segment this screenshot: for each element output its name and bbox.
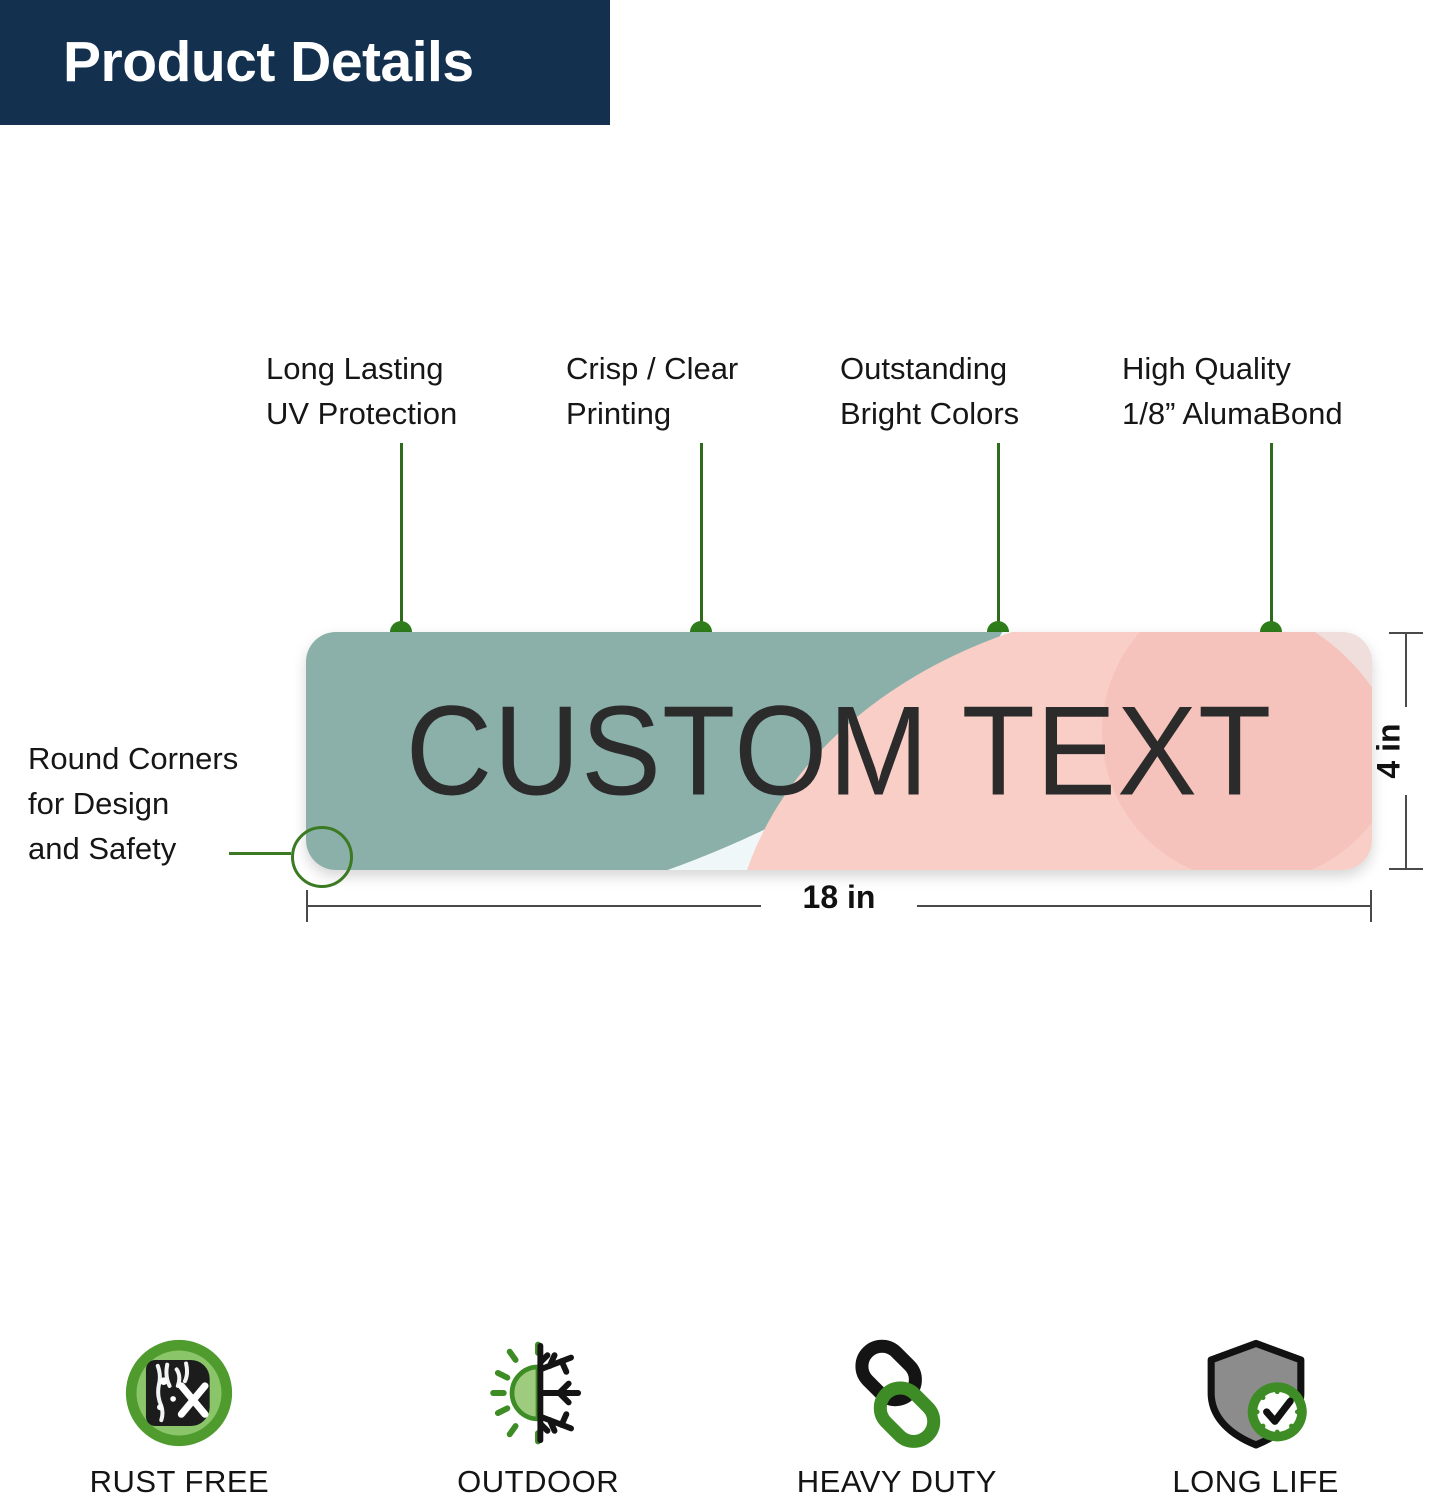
callout-label-alumabond: High Quality 1/8” AlumaBond: [1122, 347, 1343, 437]
dimension-height-line-top: [1405, 632, 1407, 707]
dimension-height-tick-top: [1389, 632, 1423, 634]
leader-line-bright-colors: [997, 443, 1000, 638]
dimension-height: 4 in: [1405, 632, 1407, 870]
leader-line-crisp-printing: [700, 443, 703, 638]
header-banner: Product Details: [0, 0, 610, 125]
leader-line-uv-protection: [400, 443, 403, 638]
round-corner-highlight-circle: [291, 826, 353, 888]
chain-link-icon: [838, 1334, 956, 1452]
callout-label-round-corners: Round Corners for Design and Safety: [28, 737, 238, 872]
feature-label-heavy-duty: HEAVY DUTY: [797, 1464, 997, 1500]
feature-rust-free: RUST FREE: [0, 1300, 359, 1500]
sun-snowflake-icon: [479, 1334, 597, 1452]
feature-label-rust-free: RUST FREE: [90, 1464, 270, 1500]
feature-outdoor: OUTDOOR: [359, 1300, 718, 1500]
feature-badges: RUST FREE: [0, 1300, 1435, 1500]
dimension-height-line-bottom: [1405, 795, 1407, 870]
callout-label-bright-colors: Outstanding Bright Colors: [840, 347, 1019, 437]
leader-line-alumabond: [1270, 443, 1273, 638]
dimension-height-tick-bottom: [1389, 868, 1423, 870]
dimension-height-label: 4 in: [1371, 723, 1408, 778]
callout-label-crisp-printing: Crisp / Clear Printing: [566, 347, 738, 437]
sign-preview: CUSTOM TEXT: [306, 632, 1372, 870]
sign-plate: CUSTOM TEXT: [306, 632, 1372, 870]
shield-clock-icon: [1197, 1334, 1315, 1452]
sign-custom-text: CUSTOM TEXT: [306, 632, 1372, 870]
callout-label-uv-protection: Long Lasting UV Protection: [266, 347, 457, 437]
rust-free-icon: [120, 1334, 238, 1452]
feature-label-long-life: LONG LIFE: [1172, 1464, 1338, 1500]
feature-label-outdoor: OUTDOOR: [457, 1464, 619, 1500]
feature-long-life: LONG LIFE: [1076, 1300, 1435, 1500]
page-title: Product Details: [0, 34, 474, 91]
dimension-width: 18 in: [306, 905, 1372, 907]
feature-heavy-duty: HEAVY DUTY: [718, 1300, 1077, 1500]
dimension-width-label: 18 in: [306, 879, 1372, 916]
leader-line-round-corners: [229, 852, 291, 855]
